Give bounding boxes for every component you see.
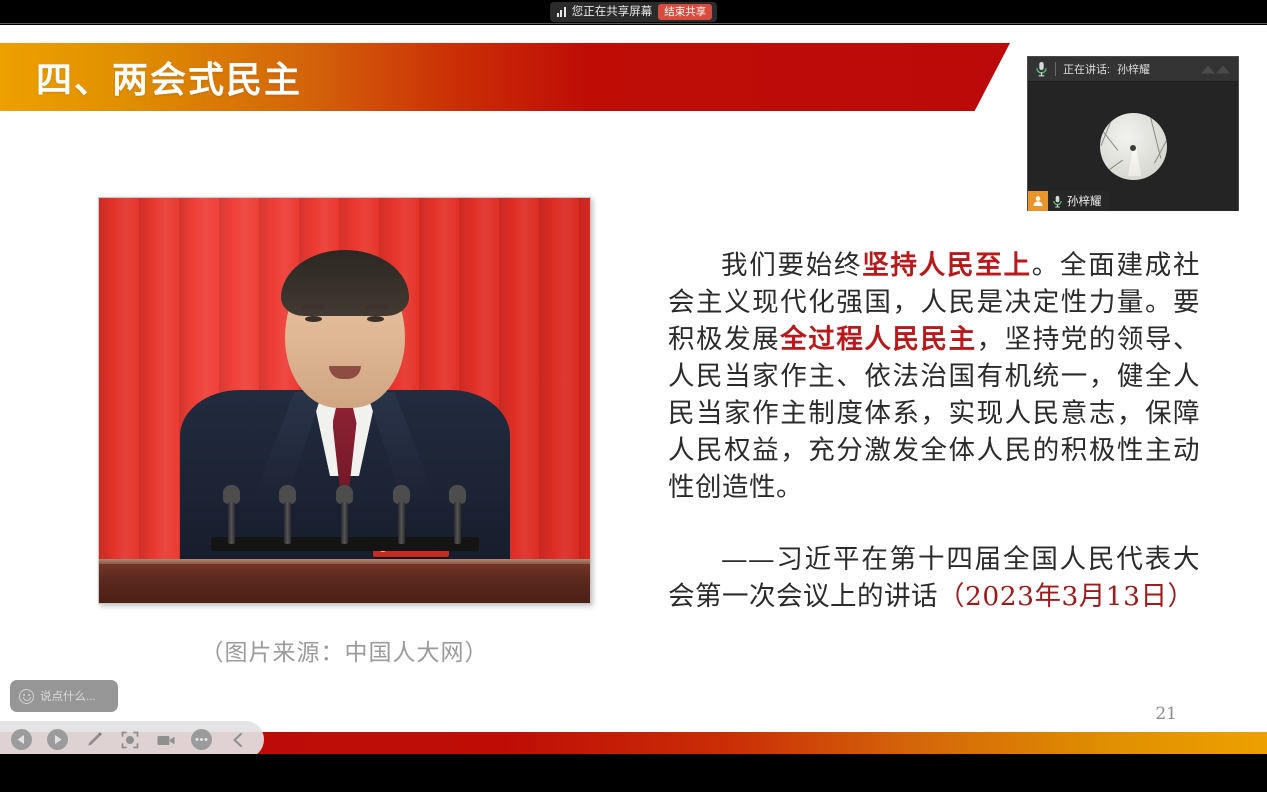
microphone — [336, 485, 353, 543]
page-title: 四、两会式民主 — [36, 51, 302, 103]
highlight-phrase-1: 坚持人民至上 — [862, 250, 1032, 281]
share-status-text: 您正在共享屏幕 — [572, 5, 653, 19]
slide-page-number: 21 — [1155, 704, 1177, 724]
photo-frame — [98, 197, 591, 604]
pencil-icon — [83, 729, 105, 751]
attribution-date: （2023年3月13日） — [938, 581, 1195, 612]
comment-placeholder: 说点什么... — [40, 688, 96, 704]
eyebrow-left — [302, 305, 324, 309]
ellipsis-icon — [191, 729, 212, 750]
avatar — [1100, 113, 1167, 180]
quote-text-part-1: 我们要始终 — [721, 250, 862, 281]
more-options-button[interactable] — [190, 728, 213, 751]
microphone — [223, 485, 240, 543]
participant-name-tag: 孙梓耀 — [1048, 191, 1109, 211]
host-person-icon — [1028, 191, 1048, 211]
share-status-pill: 您正在共享屏幕 结束共享 — [550, 2, 718, 22]
highlight-phrase-2: 全过程人民民主 — [780, 324, 976, 355]
eye-right — [367, 316, 384, 322]
annotate-pen-button[interactable] — [82, 728, 105, 751]
speaking-status-label: 正在讲话: — [1063, 61, 1110, 77]
collapse-toolbar-button[interactable] — [226, 728, 249, 751]
next-slide-button[interactable] — [46, 728, 69, 751]
screen-share-view: 您正在共享屏幕 结束共享 四、两会式民主 — [0, 0, 1267, 792]
capture-frame-icon — [119, 729, 141, 751]
record-video-button[interactable] — [154, 728, 177, 751]
play-right-icon — [47, 729, 68, 750]
eye-left — [305, 316, 322, 322]
participant-name-bar: 孙梓耀 — [1028, 191, 1109, 211]
microphone — [449, 485, 466, 543]
video-camera-icon — [155, 729, 177, 751]
double-chevron-icon[interactable] — [1199, 62, 1233, 77]
previous-slide-button[interactable] — [10, 728, 33, 751]
microphone-icon — [1052, 195, 1063, 208]
slide-title-banner: 四、两会式民主 — [0, 43, 1010, 111]
chevron-left-icon — [228, 730, 248, 750]
quote-paragraph: 我们要始终坚持人民至上。全面建成社会主义现代化强国，人民是决定性力量。要积极发展… — [668, 247, 1200, 506]
header-divider — [1055, 62, 1056, 76]
stop-share-button[interactable]: 结束共享 — [658, 4, 712, 20]
participant-name: 孙梓耀 — [1067, 193, 1102, 209]
microphone — [279, 485, 296, 543]
presentation-toolbar — [0, 721, 264, 754]
comment-input-box[interactable]: 说点什么... — [10, 680, 118, 712]
signal-icon — [557, 7, 566, 17]
slide-photo — [98, 197, 591, 604]
screen-share-status-bar: 您正在共享屏幕 结束共享 — [0, 0, 1267, 24]
screenshot-button[interactable] — [118, 728, 141, 751]
microphone — [393, 485, 410, 543]
smiley-icon[interactable] — [19, 689, 34, 704]
zoom-video-panel[interactable]: 正在讲话: 孙梓耀 — [1027, 56, 1239, 211]
zoom-panel-header: 正在讲话: 孙梓耀 — [1028, 57, 1238, 82]
slide-body-text: 我们要始终坚持人民至上。全面建成社会主义现代化强国，人民是决定性力量。要积极发展… — [668, 247, 1200, 615]
speaking-participant-name: 孙梓耀 — [1117, 61, 1150, 77]
podium — [99, 559, 590, 603]
zoom-participant-video[interactable]: 孙梓耀 — [1028, 82, 1238, 211]
microphone-icon — [1035, 61, 1048, 77]
quote-attribution: ——习近平在第十四届全国人民代表大会第一次会议上的讲话（2023年3月13日） — [668, 541, 1200, 615]
photo-caption: （图片来源：中国人大网） — [98, 633, 591, 667]
eyebrow-right — [366, 305, 388, 309]
play-left-icon — [11, 729, 32, 750]
